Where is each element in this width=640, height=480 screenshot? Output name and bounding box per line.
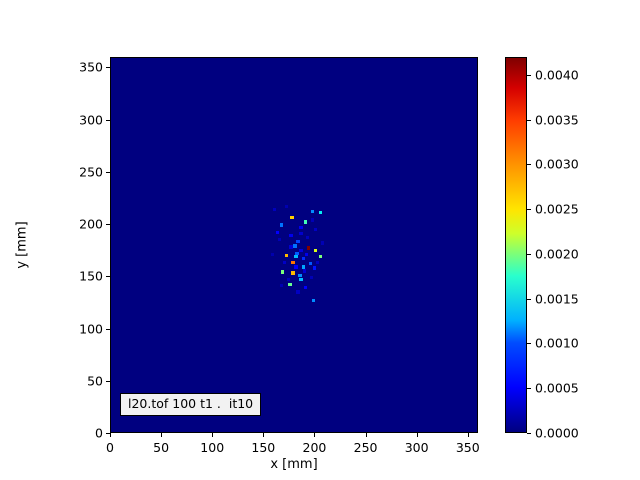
heatmap-cell — [296, 240, 299, 243]
heatmap-cell-faint — [299, 249, 302, 252]
heatmap-cell — [290, 216, 293, 219]
colorbar-tick-mark — [527, 433, 531, 434]
heatmap-cell-faint — [321, 241, 324, 244]
colorbar-tick-label: 0.0025 — [535, 202, 579, 217]
colorbar-tick-mark — [527, 75, 531, 76]
x-tick-label: 100 — [200, 440, 224, 455]
colorbar-tick-label: 0.0030 — [535, 157, 579, 172]
y-tick-mark — [106, 224, 110, 225]
heatmap-cell-faint — [303, 269, 306, 272]
heatmap-cell-faint — [280, 284, 283, 287]
y-tick-label: 100 — [79, 321, 103, 336]
heatmap-cell-faint — [273, 208, 276, 211]
x-tick-mark — [263, 433, 264, 437]
annotation-label: l20.tof 100 t1 . it10 — [120, 393, 261, 416]
heatmap-cell-faint — [289, 245, 292, 248]
y-tick-mark — [106, 381, 110, 382]
heatmap-cell-faint — [305, 253, 308, 256]
heatmap-cell — [314, 249, 317, 252]
heatmap-cell — [302, 265, 305, 268]
heatmap-cell-faint — [283, 261, 286, 264]
colorbar-tick-label: 0.0005 — [535, 381, 579, 396]
heatmap-cell — [276, 231, 279, 234]
heatmap-cell-faint — [311, 218, 314, 221]
colorbar-tick-label: 0.0015 — [535, 291, 579, 306]
y-tick-label: 0 — [95, 426, 103, 441]
colorbar-tick-mark — [527, 254, 531, 255]
heatmap-cell — [291, 261, 294, 264]
y-tick-mark — [106, 276, 110, 277]
colorbar-tick-label: 0.0035 — [535, 112, 579, 127]
colorbar-tick-mark — [527, 388, 531, 389]
heatmap-cell — [299, 226, 302, 229]
heatmap-cell-faint — [287, 278, 290, 281]
x-tick-label: 50 — [153, 440, 169, 455]
heatmap-cell — [285, 254, 288, 257]
colorbar-tick-label: 0.0010 — [535, 336, 579, 351]
plot-axes — [110, 57, 478, 433]
heatmap-image — [111, 58, 477, 432]
x-tick-mark — [366, 433, 367, 437]
heatmap-cell — [294, 255, 297, 258]
colorbar-tick-label: 0.0020 — [535, 246, 579, 261]
heatmap-cell — [281, 270, 284, 273]
heatmap-cell — [319, 211, 322, 214]
y-tick-label: 150 — [79, 269, 103, 284]
y-tick-mark — [106, 120, 110, 121]
x-tick-mark — [212, 433, 213, 437]
matplotlib-figure: l20.tof 100 t1 . it10 x [mm] y [mm] 0501… — [0, 0, 640, 480]
heatmap-cell — [291, 271, 294, 274]
x-tick-label: 150 — [251, 440, 275, 455]
heatmap-cell-faint — [294, 265, 297, 268]
heatmap-cell-faint — [310, 276, 313, 279]
heatmap-cell — [311, 210, 314, 213]
heatmap-cell — [288, 283, 291, 286]
x-tick-label: 300 — [405, 440, 429, 455]
heatmap-cell — [293, 244, 296, 247]
y-tick-label: 200 — [79, 217, 103, 232]
heatmap-cell-faint — [271, 253, 274, 256]
x-tick-mark — [161, 433, 162, 437]
heatmap-cell-faint — [314, 228, 317, 231]
heatmap-cell — [304, 220, 307, 223]
x-tick-mark — [110, 433, 111, 437]
x-tick-label: 350 — [456, 440, 480, 455]
heatmap-cell — [304, 286, 307, 289]
x-tick-label: 250 — [354, 440, 378, 455]
y-tick-mark — [106, 67, 110, 68]
heatmap-cell — [298, 274, 301, 277]
heatmap-cell-faint — [316, 261, 319, 264]
heatmap-cell-faint — [278, 238, 281, 241]
heatmap-cell — [280, 223, 283, 226]
y-tick-label: 350 — [79, 60, 103, 75]
y-tick-mark — [106, 433, 110, 434]
y-tick-label: 300 — [79, 112, 103, 127]
x-tick-label: 0 — [106, 440, 114, 455]
heatmap-cell — [312, 299, 315, 302]
colorbar-tick-mark — [527, 164, 531, 165]
heatmap-cell — [299, 278, 302, 281]
heatmap-cell-faint — [285, 205, 288, 208]
heatmap-cell — [309, 262, 312, 265]
y-tick-mark — [106, 329, 110, 330]
heatmap-cell — [319, 255, 322, 258]
colorbar-tick-label: 0.0040 — [535, 67, 579, 82]
y-tick-label: 250 — [79, 164, 103, 179]
colorbar-tick-label: 0.0000 — [535, 426, 579, 441]
y-tick-mark — [106, 172, 110, 173]
heatmap-cell — [313, 266, 316, 269]
x-axis-title: x [mm] — [270, 457, 317, 472]
x-tick-label: 200 — [303, 440, 327, 455]
x-tick-mark — [468, 433, 469, 437]
colorbar-tick-mark — [527, 299, 531, 300]
colorbar-tick-mark — [527, 120, 531, 121]
colorbar-tick-mark — [527, 343, 531, 344]
heatmap-cell-faint — [296, 290, 299, 293]
heatmap-cell — [302, 257, 305, 260]
colorbar-tick-mark — [527, 209, 531, 210]
heatmap-cell — [307, 246, 310, 249]
heatmap-cell-faint — [299, 232, 302, 235]
y-axis-title: y [mm] — [15, 221, 30, 268]
heatmap-cell-faint — [306, 236, 309, 239]
colorbar — [505, 57, 527, 433]
y-tick-label: 50 — [87, 373, 103, 388]
x-tick-mark — [314, 433, 315, 437]
heatmap-cell — [289, 234, 292, 237]
x-tick-mark — [417, 433, 418, 437]
